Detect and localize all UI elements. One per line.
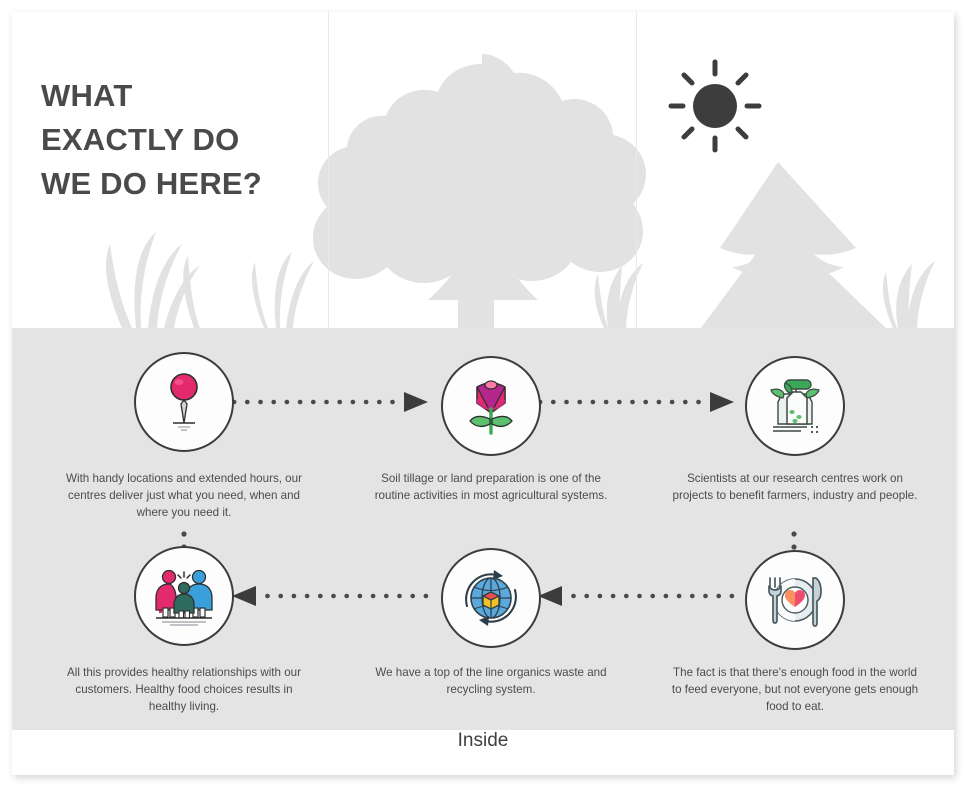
footer-label: Inside <box>12 730 954 752</box>
step-5-node[interactable] <box>441 548 541 648</box>
plate-heart-icon <box>762 570 828 630</box>
arrow-step6-to-step5-head <box>538 586 562 606</box>
location-pin-icon <box>153 371 215 433</box>
page-title-line-2: EXACTLY DO <box>41 118 321 162</box>
panel-divider-1 <box>328 12 329 328</box>
sun-icon <box>671 62 759 150</box>
grass-icon-right <box>883 261 935 328</box>
arrow-step2-to-step3-head <box>710 392 734 412</box>
tulip-flower-icon <box>461 375 521 437</box>
page-title-line-3: WE DO HERE? <box>41 162 321 206</box>
arrow-step5-to-step4-head <box>232 586 256 606</box>
step-4-node[interactable] <box>134 546 234 646</box>
step-1-caption: With handy locations and extended hours,… <box>60 470 308 521</box>
step-2-caption: Soil tillage or land preparation is one … <box>367 470 615 504</box>
step-6-node[interactable] <box>745 550 845 650</box>
panel-divider-2 <box>636 12 637 328</box>
page-title: WHAT EXACTLY DO WE DO HERE? <box>41 74 321 206</box>
step-5-caption: We have a top of the line organics waste… <box>367 664 615 698</box>
pine-tree-icon <box>682 162 890 328</box>
infographic-card: WHAT EXACTLY DO WE DO HERE? <box>12 12 954 775</box>
step-3-caption: Scientists at our research centres work … <box>671 470 919 504</box>
step-3-node[interactable] <box>745 356 845 456</box>
infographic-page: WHAT EXACTLY DO WE DO HERE? <box>0 0 966 787</box>
step-6-caption: The fact is that there's enough food in … <box>671 664 919 715</box>
banner: WHAT EXACTLY DO WE DO HERE? <box>12 12 954 328</box>
arrow-step1-to-step2-head <box>404 392 428 412</box>
step-4-caption: All this provides healthy relationships … <box>60 664 308 715</box>
grass-icon-left <box>106 232 314 328</box>
process-flow: With handy locations and extended hours,… <box>12 328 954 730</box>
step-1-node[interactable] <box>134 352 234 452</box>
step-2-node[interactable] <box>441 356 541 456</box>
research-facility-icon <box>763 376 827 436</box>
recycling-globe-icon <box>459 566 523 630</box>
page-title-line-1: WHAT <box>41 74 321 118</box>
family-group-icon <box>152 565 216 627</box>
process-band: With handy locations and extended hours,… <box>12 328 954 730</box>
